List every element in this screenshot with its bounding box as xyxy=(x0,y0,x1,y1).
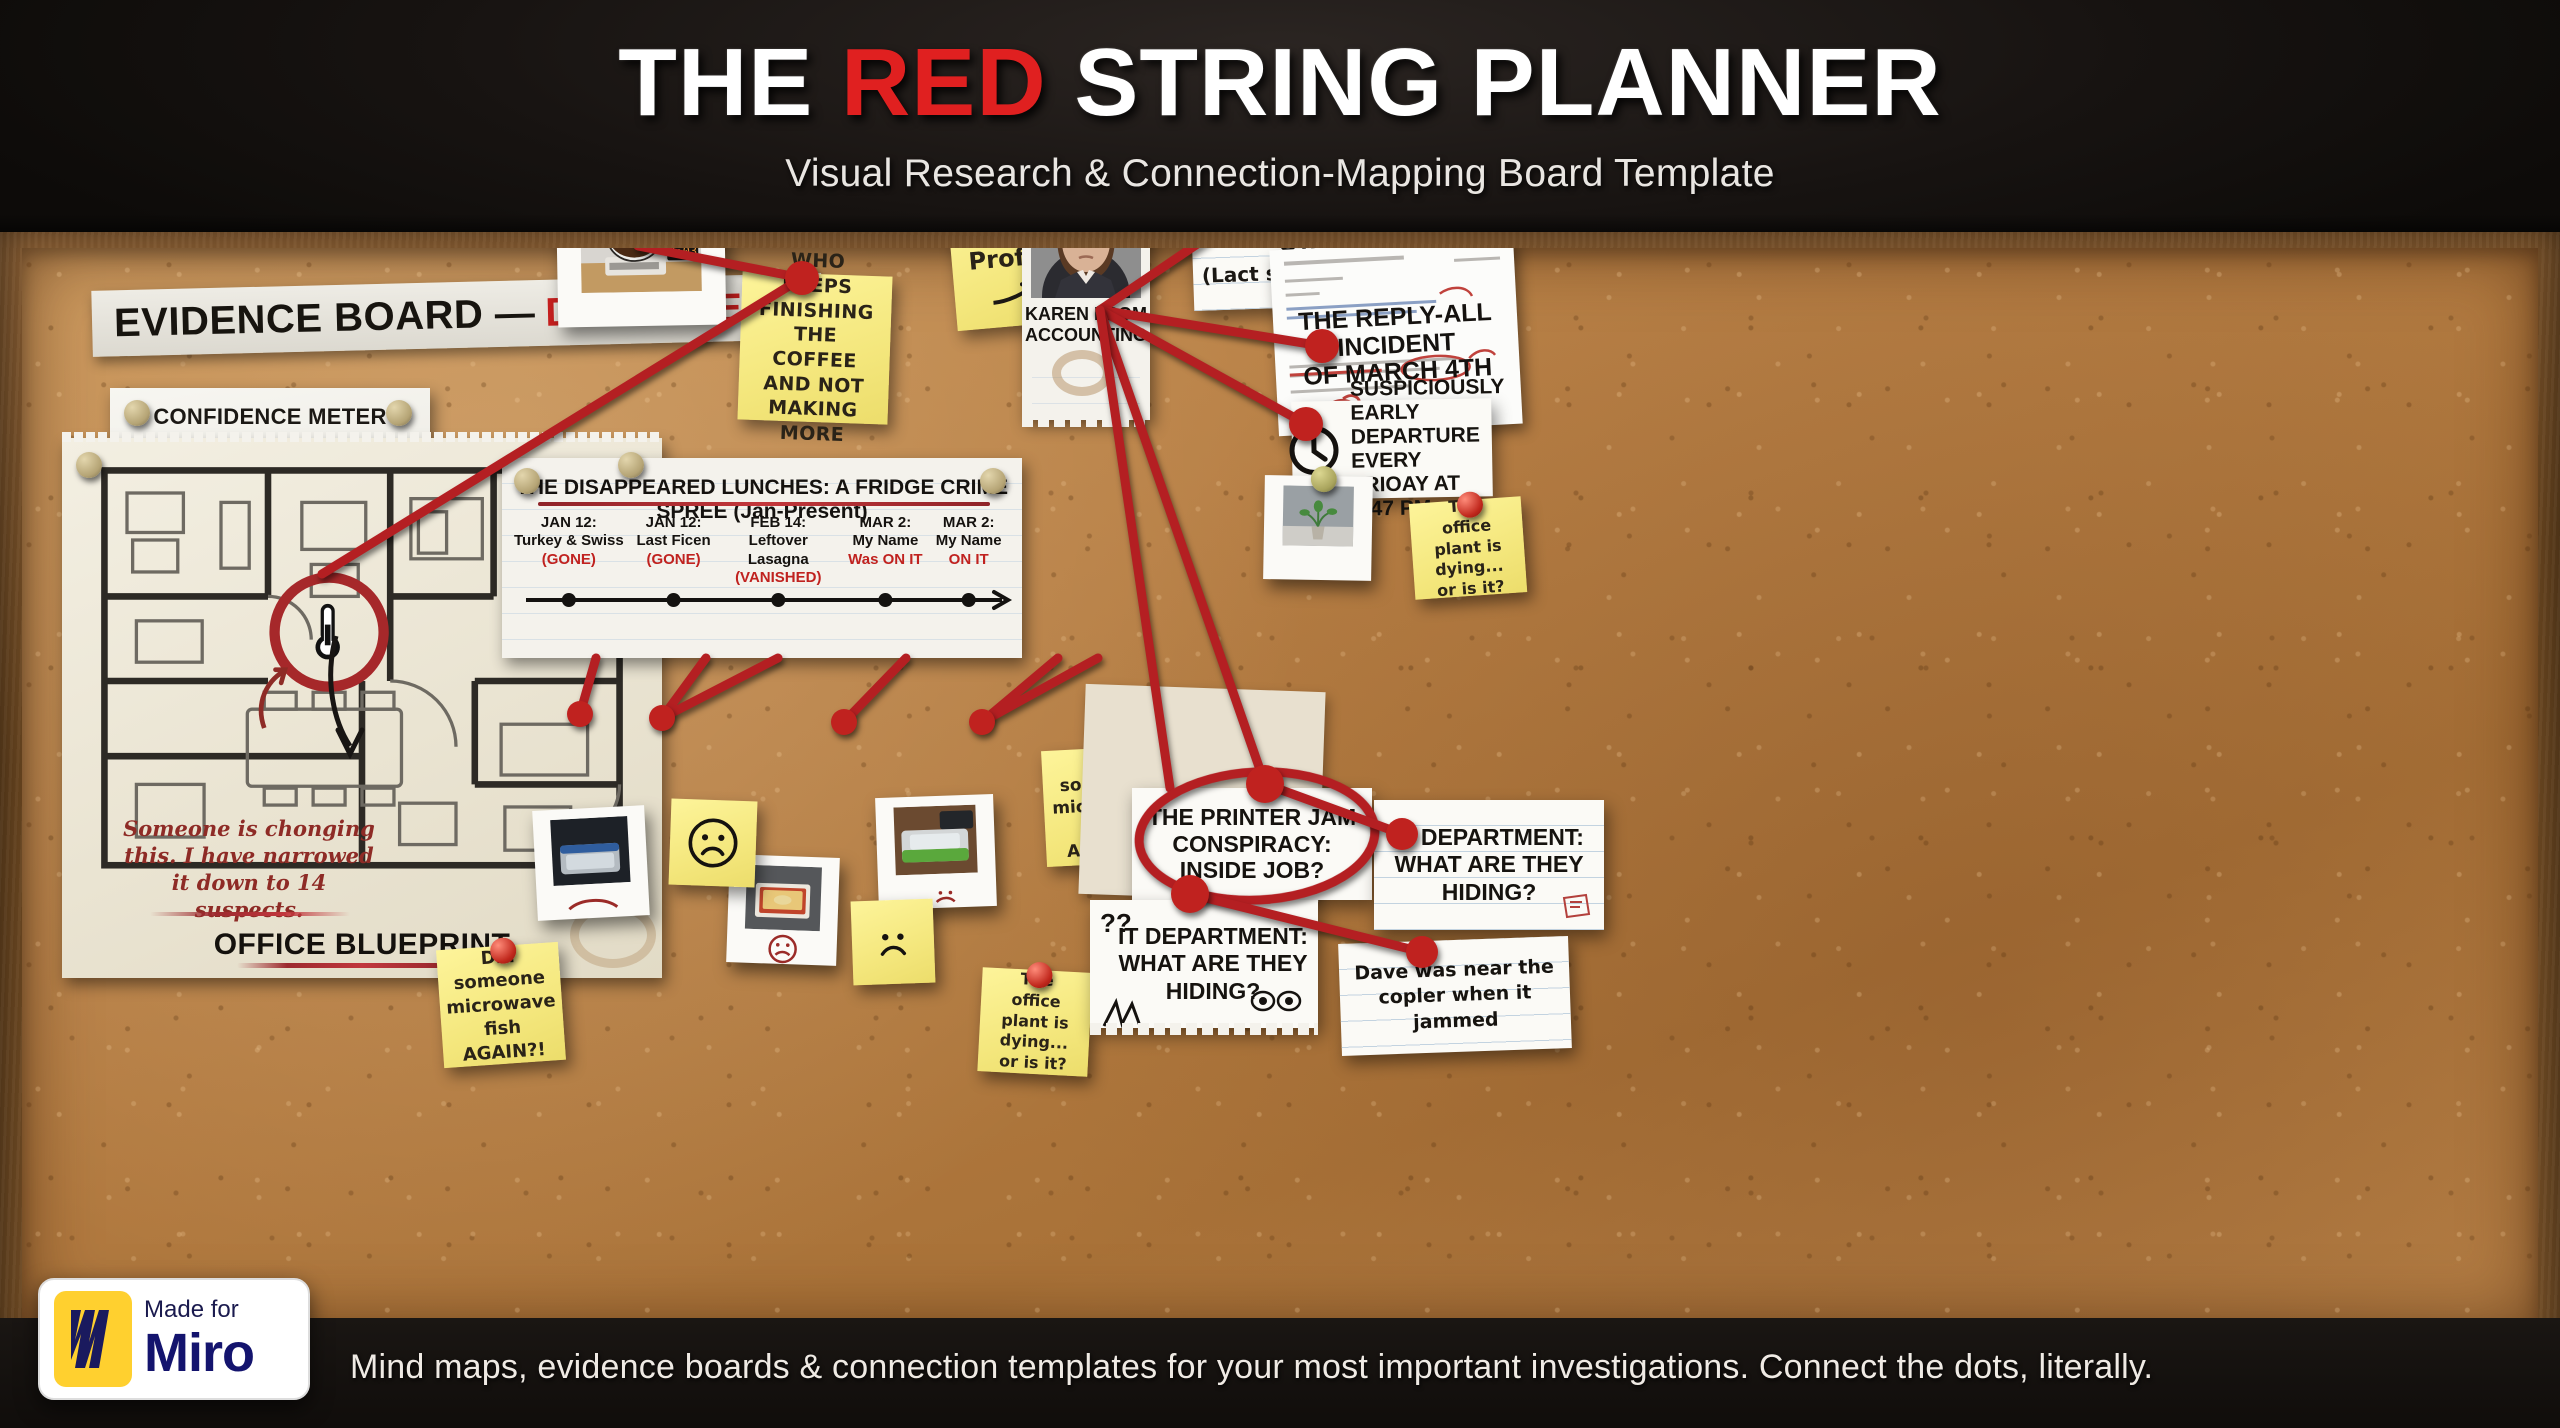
suspect-portrait-photo xyxy=(1031,248,1141,298)
lunch-photo-3 xyxy=(875,794,997,910)
miro-brand-label: Miro xyxy=(144,1326,254,1380)
timeline-marker xyxy=(562,593,576,607)
suspect-name: KAREN FROM ACCOUNTING xyxy=(1022,304,1150,346)
card-it-department-right: IT DEPARTMENT: WHAT ARE THEY HIDING? xyxy=(1374,800,1604,930)
blueprint-title: OFFICE BLUEPRINT xyxy=(62,928,662,962)
timeline-event-item: My Name xyxy=(909,532,1029,550)
timeline-marker xyxy=(878,593,892,607)
card-printer-jam-title: THE PRINTER JAM CONSPIRACY: INSIDE JOB? xyxy=(1148,804,1356,884)
pin-tan-icon xyxy=(514,468,540,494)
page-title: THE RED STRING PLANNER xyxy=(0,28,2560,138)
miro-badge-text: Made for Miro xyxy=(144,1298,254,1380)
timeline-marker xyxy=(667,593,681,607)
lunch-timeline-card: THE DISAPPEARED LUNCHES: A FRIDGE CRIME … xyxy=(502,458,1022,658)
lunch-photo-1 xyxy=(532,805,650,921)
card-it-department-left: ?? IT DEPARTMENT: WHAT ARE THEY HIDING? xyxy=(1090,900,1318,1028)
plant-image xyxy=(1274,485,1363,547)
sticky-note-plant-1: The office plant is dying... or is it? xyxy=(977,967,1092,1077)
timeline-event-status: (GONE) xyxy=(509,551,629,569)
question-marks: ?? xyxy=(1100,908,1132,939)
poster-root: THE RED STRING PLANNER Visual Research &… xyxy=(0,0,2560,1428)
blueprint-annotation: Someone is chonging this. I have narrowe… xyxy=(114,816,384,924)
timeline-event-status: ON IT xyxy=(909,551,1029,569)
footer-tagline: Mind maps, evidence boards & connection … xyxy=(350,1348,2500,1387)
card-dave-copier: Dave was near the copler when it jammed xyxy=(1338,936,1572,1056)
poster-footer: Mind maps, evidence boards & connection … xyxy=(0,1318,2560,1428)
suspect-profile-card: KAREN FROM ACCOUNTING xyxy=(1022,248,1150,420)
sticky-note-plant-2: The office plant is dying... or is it? xyxy=(1409,496,1527,600)
title-red-word: RED xyxy=(841,29,1047,136)
sticky-note-sad-1 xyxy=(669,799,758,888)
coffee-pot-photo: 9:03 xyxy=(556,248,727,327)
timeline-event-date: JAN 12: xyxy=(614,514,734,532)
corkboard-surface: EVIDENCE BOARD — DO NOT ERASE CONFIDENCE… xyxy=(22,248,2538,1328)
sticky-note-sad-2 xyxy=(851,899,936,986)
scribble-icon xyxy=(1098,996,1158,1036)
stamp-icon xyxy=(1560,890,1592,920)
pin-tan-icon xyxy=(618,452,644,478)
sad-face-icon xyxy=(683,810,743,876)
poster-header: THE RED STRING PLANNER Visual Research &… xyxy=(0,0,2560,232)
miro-made-for-label: Made for xyxy=(144,1298,254,1322)
title-part-1: THE xyxy=(618,29,841,136)
sticky-note-text: WHO KEEPS FINISHING THE COFFEE AND NOT M… xyxy=(751,248,880,449)
timeline-event-date: MAR 2: xyxy=(909,514,1029,532)
suspect-name-line1: KAREN FROM xyxy=(1022,304,1150,325)
timeline-marker xyxy=(962,593,976,607)
page-subtitle: Visual Research & Connection-Mapping Boa… xyxy=(0,152,2560,196)
annotation-arrow-icon xyxy=(318,630,438,760)
timeline-event: JAN 12:Turkey & Swiss(GONE) xyxy=(509,514,629,569)
confidence-meter-heading: CONFIDENCE METER xyxy=(110,404,430,430)
timeline-event: JAN 12:Last Ficen(GONE) xyxy=(614,514,734,569)
pin-tan-icon xyxy=(980,468,1006,494)
blueprint-annotation-underline xyxy=(150,912,350,916)
pin-tan-icon xyxy=(386,400,412,426)
lunch-container-image xyxy=(543,816,638,887)
timeline-event: MAR 2:My NameON IT xyxy=(909,514,1029,569)
sad-face-doodle-icon xyxy=(562,888,623,917)
timeline-event-item: Last Ficen xyxy=(614,532,734,550)
card-printer-jam: THE PRINTER JAM CONSPIRACY: INSIDE JOB? xyxy=(1132,788,1372,900)
made-for-miro-badge[interactable]: Made for Miro xyxy=(38,1278,310,1400)
timeline-event-date: FEB 14: xyxy=(718,514,838,532)
timeline-event-date: JAN 12: xyxy=(509,514,629,532)
pin-tan-icon xyxy=(124,400,150,426)
sad-face-doodle-icon xyxy=(754,933,811,965)
timeline-axis xyxy=(502,586,1027,616)
pin-tan-icon xyxy=(76,452,102,478)
evidence-banner-label: EVIDENCE BOARD — xyxy=(114,291,536,346)
timeline-event-status: (VANISHED) xyxy=(718,569,838,587)
sticky-note-fish-2: Did someone microwave fish AGAIN?! xyxy=(436,942,566,1068)
miro-logo-icon xyxy=(54,1291,132,1387)
coffee-stain xyxy=(1052,350,1112,396)
card-it-right-title: IT DEPARTMENT: WHAT ARE THEY HIDING? xyxy=(1394,824,1584,905)
title-part-2: STRING PLANNER xyxy=(1047,29,1942,136)
clock-time: 9:03 xyxy=(668,248,697,258)
timeline-event: FEB 14:Leftover Lasagna(VANISHED) xyxy=(718,514,838,587)
suspect-name-line2: ACCOUNTING xyxy=(1022,325,1150,346)
sticky-note-coffee: WHO KEEPS FINISHING THE COFFEE AND NOT M… xyxy=(737,271,892,424)
timeline-title-underline xyxy=(538,502,990,506)
miro-glyph xyxy=(65,1306,121,1372)
timeline-marker xyxy=(771,593,785,607)
coffee-pot-image: 9:03 xyxy=(566,248,716,293)
timeline-event-item: Turkey & Swiss xyxy=(509,532,629,550)
tupperware-image xyxy=(885,804,985,875)
card-dave-copier-text: Dave was near the copler when it jammed xyxy=(1351,954,1560,1038)
sad-face-icon xyxy=(865,910,921,974)
eyes-icon xyxy=(1250,988,1304,1014)
timeline-event-item: Leftover Lasagna xyxy=(718,532,838,569)
office-plant-photo xyxy=(1263,475,1373,581)
timeline-event-status: (GONE) xyxy=(614,551,734,569)
